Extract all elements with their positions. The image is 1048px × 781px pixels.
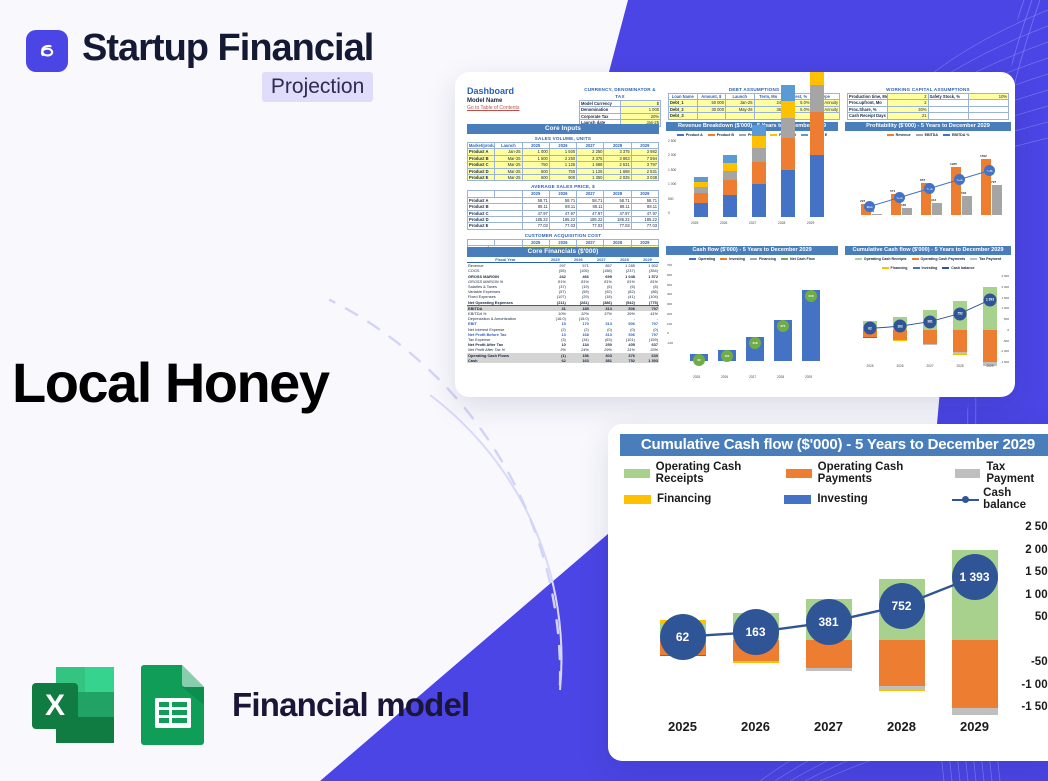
legend-swatch (887, 134, 894, 137)
cash-balance-marker: 163 (733, 609, 779, 655)
data-point-bubble: 62 (693, 354, 705, 366)
legend-label-cash-balance: Cash balance (983, 487, 1048, 511)
bar-segment (781, 118, 795, 138)
legend-swatch-financing (624, 495, 651, 504)
cash-balance-marker: 381 (924, 315, 937, 328)
data-point-bubble: 371 (777, 320, 789, 332)
x-axis-tick: 2025 (668, 719, 697, 734)
x-axis-tick: 2025 (866, 364, 873, 368)
table-row: Net Profit After Tax %3%24%29%31%33% (467, 347, 659, 352)
table-row: Cash621633817521 393 (467, 358, 659, 363)
cash-balance-marker: 163 (894, 320, 907, 333)
x-tick: 2027 (749, 221, 756, 225)
file-format-label: Financial model (232, 686, 469, 724)
bar-segment (810, 85, 824, 112)
legend-item: Operating Cash Payments (912, 257, 966, 261)
bar-segment-operating-cash-payments (923, 330, 937, 344)
y-tick: -100 (667, 341, 673, 345)
product-title: Local Honey (12, 352, 328, 414)
bar-segment-tax-payment (952, 708, 998, 715)
y-axis-tick: 2 500 (1001, 274, 1009, 278)
svg-text:X: X (45, 689, 65, 722)
avg-price-title: AVERAGE SALES PRICE, $ (467, 183, 659, 190)
x-tick: 2026 (721, 375, 728, 379)
bar-segment (723, 155, 737, 163)
cell-product: Product E (468, 223, 523, 229)
legend-swatch-tax-payment (955, 469, 980, 478)
cell-value: 3 038 (631, 175, 658, 181)
x-axis-tick: 2027 (926, 364, 933, 368)
cell-value: 77.03 (577, 223, 604, 229)
cell-value: 900 (549, 175, 576, 181)
bar-segment (694, 193, 708, 203)
y-axis-tick: 2 000 (1001, 285, 1009, 289)
core-financials-table: Fiscal Year20252026202720282029Revenue29… (467, 257, 659, 363)
y-tick: 1 000 (668, 182, 676, 186)
y-axis-tick: 0 (1007, 328, 1009, 332)
google-sheets-icon (138, 662, 208, 748)
cell-value: 163 (567, 358, 590, 363)
bar-segment-operating-cash-payments (879, 640, 925, 686)
legend-swatch (913, 267, 920, 270)
bar-segment (752, 184, 766, 217)
mini-chart-cumulative-cash-flow[interactable]: Cumulative Cash flow ($'000) - 5 Years t… (845, 246, 1011, 386)
cell-label2 (928, 113, 968, 119)
legend-label-operating-cash-payments: Operating Cash Payments (818, 461, 955, 485)
bar-segment (723, 180, 737, 195)
sales-volume-title: SALES VOLUME, UNITS (467, 135, 659, 142)
mini-chart-1-plot: 2 5002 0001 5001 00050002025202620272028… (666, 137, 838, 225)
legend-swatch (677, 134, 684, 137)
legend-label: Tax Payment (979, 257, 1001, 261)
bar-segment-financing (879, 690, 925, 691)
bar-segment (752, 136, 766, 148)
bar-segment (781, 101, 795, 118)
y-axis-tick: -1 500 (1000, 360, 1009, 364)
y-tick: 2 500 (668, 139, 676, 143)
cell-label: Cash (467, 358, 544, 363)
x-tick: 2025 (691, 221, 698, 225)
core-inputs-block: Core Inputs SALES VOLUME, UNITS Market/p… (467, 124, 659, 253)
legend-label-tax-payment: Tax Payment (986, 461, 1048, 485)
cell-value: 62 (544, 358, 567, 363)
x-axis-tick: 2027 (814, 719, 843, 734)
bar-segment-tax-payment (923, 344, 937, 345)
cash-balance-marker: 381 (806, 599, 852, 645)
brand-logo (26, 30, 68, 72)
bar-segment (694, 187, 708, 193)
data-point-bubble: 101 (721, 350, 733, 362)
legend-swatch (770, 134, 777, 137)
chart-plot-area: 2 5002 0001 5001 0005000-500-1 000-1 500… (620, 519, 1048, 734)
currency-block: CURRENCY, DENOMINATOR & TAX Model Curren… (579, 86, 661, 127)
x-axis-tick: 2026 (896, 364, 903, 368)
x-axis-tick: 2028 (887, 719, 916, 734)
dashboard-toc-link[interactable]: Go to Table of Contents (467, 105, 519, 112)
table-row: Fixed Expenses(107)(29)(18)(41)(104) (467, 294, 659, 299)
y-tick: 300 (667, 302, 672, 306)
x-tick: 2027 (749, 375, 756, 379)
column-header: Amount, $ (697, 94, 726, 100)
cell-value: 77.03 (631, 223, 658, 229)
data-point-bubble: 640 (805, 290, 817, 302)
y-axis-tick: 1 500 (1025, 566, 1048, 578)
cell-value: 1 350 (577, 175, 604, 181)
microsoft-excel-icon: X (30, 665, 116, 745)
y-tick: 0 (667, 331, 669, 335)
dashboard-screenshot-card[interactable]: Dashboard Model Name Go to Table of Cont… (455, 72, 1015, 397)
legend-item-cash-balance: Cash balance (952, 487, 1048, 511)
y-axis-tick: -1 000 (1021, 679, 1048, 691)
working-capital-block: WORKING CAPITAL ASSUMPTIONS Production t… (847, 86, 1009, 120)
cell (726, 113, 755, 119)
mini-chart-4-title: Cumulative Cash flow ($'000) - 5 Years t… (845, 246, 1011, 255)
bar-segment (781, 138, 795, 170)
x-axis-tick: 2028 (956, 364, 963, 368)
cell-value: 1 393 (636, 358, 659, 363)
mini-chart-3-plot: 7006005004003002001000-10062202510120262… (666, 261, 838, 371)
y-axis-tick: 1 000 (1001, 306, 1009, 310)
bar-segment (723, 195, 737, 217)
cash-balance-marker: 752 (954, 307, 967, 320)
legend-label-operating-cash-receipts: Operating Cash Receipts (656, 461, 786, 485)
y-axis-tick: -1 000 (1000, 349, 1009, 353)
cell-value: 77.03 (522, 223, 549, 229)
brand-header: Startup Financial Projection (26, 26, 373, 102)
mini-chart-revenue-breakdown[interactable]: Revenue Breakdown ($'000) - 5 Years to D… (666, 122, 838, 240)
y-tick: 2 000 (668, 153, 676, 157)
legend-swatch (942, 267, 949, 269)
brand-title: Startup Financial (82, 26, 373, 70)
legend-swatch-operating-cash-receipts (624, 469, 650, 478)
legend-label: Operating Cash Receipts (864, 257, 907, 261)
mini-chart-2-title: Profitability ($'000) - 5 Years to Decem… (845, 122, 1011, 131)
legend-marker-cash-balance (952, 495, 977, 504)
x-tick: 2029 (805, 375, 812, 379)
table-row: Net Operating Expenses(211)(281)(386)(54… (467, 300, 659, 306)
y-tick: 500 (667, 283, 672, 287)
bar-segment (694, 177, 708, 182)
chart-title: Cumulative Cash flow ($'000) - 5 Years t… (620, 434, 1048, 456)
y-tick: 600 (667, 273, 672, 277)
x-axis-tick: 2029 (986, 364, 993, 368)
bar-segment (723, 171, 737, 180)
y-tick: 400 (667, 292, 672, 296)
legend-item: Tax Payment (970, 257, 1001, 261)
poster-canvas: Startup Financial Projection Local Honey… (0, 0, 1048, 781)
bar-segment (752, 162, 766, 184)
bar-segment-tax-payment (806, 668, 852, 671)
cell-value: 600 (522, 175, 549, 181)
wc-section-title: WORKING CAPITAL ASSUMPTIONS (847, 86, 1009, 93)
cell-value: 381 (590, 358, 613, 363)
legend-swatch (801, 134, 808, 137)
legend-swatch (882, 267, 889, 270)
dashboard-heading-block: Dashboard Model Name Go to Table of Cont… (467, 86, 519, 112)
cell-value: 77.03 (549, 223, 576, 229)
cash-balance-marker: 62 (864, 322, 877, 335)
column-header: Market/product (468, 143, 495, 149)
y-tick: 500 (668, 197, 674, 201)
y-tick: 100 (667, 322, 672, 326)
legend-swatch-operating-cash-payments (786, 469, 812, 478)
cell (697, 113, 726, 119)
chart-legend: Operating Cash Receipts Operating Cash P… (620, 456, 1048, 511)
cell-value: 77.03 (604, 223, 631, 229)
y-axis-tick: -1 500 (1021, 701, 1048, 713)
data-point-bubble: 218 (749, 337, 761, 349)
legend-item-financing: Financing (624, 493, 784, 505)
legend-swatch-investing (784, 495, 811, 504)
bar-segment-financing (953, 354, 967, 355)
legend-swatch (912, 258, 919, 261)
infinity-swirl-icon (34, 38, 60, 64)
legend-item-tax-payment: Tax Payment (955, 461, 1048, 485)
legend-swatch (781, 258, 788, 260)
legend-label-financing: Financing (657, 493, 711, 505)
legend-swatch (916, 134, 923, 137)
mini-chart-4-plot: 2 5002 0001 5001 0005000-500-1 000-1 500… (845, 270, 1011, 380)
bar-segment (781, 170, 795, 217)
table-row: Product EMar-256009001 3502 0253 038 (468, 175, 659, 181)
mini-chart-3-title: Cash flow ($'000) - 5 Years to December … (666, 246, 838, 255)
bar-segment-investing (863, 337, 877, 338)
bar-segment-financing (893, 340, 907, 341)
sales-volume-table: Market/productLaunch20252026202720282029… (467, 142, 659, 181)
bar-segment-operating-cash-payments (983, 330, 997, 363)
cash-balance-marker: 62 (660, 614, 706, 660)
dashboard-title: Dashboard (467, 86, 519, 97)
bar-segment (723, 163, 737, 171)
legend-swatch (855, 258, 862, 261)
mini-chart-cash-flow[interactable]: Cash flow ($'000) - 5 Years to December … (666, 246, 838, 386)
cell-launch: Mar-25 (495, 175, 522, 181)
y-axis-tick: 500 (1035, 611, 1048, 623)
mini-chart-profitability[interactable]: Profitability ($'000) - 5 Years to Decem… (845, 122, 1011, 240)
bar-segment (810, 72, 824, 85)
legend-label-investing: Investing (817, 493, 867, 505)
x-tick: 2029 (807, 221, 814, 225)
x-tick: 2025 (693, 375, 700, 379)
legend-swatch (943, 134, 950, 136)
bar-segment (810, 155, 824, 217)
currency-section-title: CURRENCY, DENOMINATOR & TAX (579, 86, 661, 100)
y-axis-tick: -500 (1031, 656, 1048, 668)
table-row: Product E77.0377.0377.0377.0377.03 (468, 223, 659, 229)
cell: Debt_3 (669, 113, 698, 119)
cell-label: Cash Receipt Days (848, 113, 888, 119)
legend-swatch (750, 258, 757, 261)
cell (754, 113, 783, 119)
bar-segment (752, 148, 766, 162)
currency-table: Model Currency$Denomination1 000Corporat… (579, 100, 661, 127)
y-tick: 700 (667, 263, 672, 267)
y-tick: 1 500 (668, 168, 676, 172)
cell-value: 2 025 (604, 175, 631, 181)
bar-segment (781, 85, 795, 101)
bar-segment (694, 203, 708, 217)
mini-chart-4-legend: Operating Cash ReceiptsOperating Cash Pa… (845, 255, 1011, 270)
legend-swatch (970, 258, 977, 261)
y-axis-tick: 1 500 (1001, 296, 1009, 300)
bar-segment-operating-cash-payments (952, 640, 998, 708)
legend-item-operating-cash-receipts: Operating Cash Receipts (624, 461, 786, 485)
cell-product: Product E (468, 175, 495, 181)
core-inputs-band: Core Inputs (467, 124, 659, 134)
legend-item-investing: Investing (784, 493, 952, 505)
y-tick: 200 (667, 312, 672, 316)
x-tick: 2028 (777, 375, 784, 379)
ebitda-percent-line (845, 137, 1011, 227)
cell-value: 21 (888, 113, 928, 119)
x-tick: 2028 (778, 221, 785, 225)
legend-swatch (720, 258, 727, 261)
table-row: Cash Receipt Days21 (848, 113, 1009, 119)
legend-swatch (739, 134, 746, 137)
column-header: Loan Name (669, 94, 698, 100)
dashboard-model-name: Model Name (467, 97, 519, 105)
y-axis-tick: -500 (1003, 339, 1009, 343)
working-capital-table: Production time, Mo2Safety Stock, %10%Pr… (847, 93, 1009, 120)
legend-label: Operating Cash Payments (921, 257, 966, 261)
bar-segment (694, 182, 708, 187)
cell-label: Proc.upfront, Mo (848, 100, 888, 106)
y-tick: 0 (668, 211, 670, 215)
bar-segment (810, 112, 824, 155)
cumulative-cashflow-card[interactable]: Cumulative Cash flow ($'000) - 5 Years t… (608, 424, 1048, 761)
core-financials-block: Core Financials ($'000) Fiscal Year20252… (467, 247, 659, 363)
cash-balance-marker: 1 393 (952, 554, 998, 600)
y-axis-tick: 2 500 (1025, 521, 1048, 533)
cell-value: 752 (613, 358, 636, 363)
cash-balance-marker: 1 393 (984, 293, 997, 306)
bar-segment-operating-cash-payments (953, 330, 967, 352)
cac-title: CUSTOMER ACQUISITION COST (467, 232, 659, 239)
legend-swatch (708, 134, 715, 137)
cell-value2 (968, 113, 1008, 119)
x-axis-tick: 2029 (960, 719, 989, 734)
x-axis-tick: 2026 (741, 719, 770, 734)
x-tick: 2026 (720, 221, 727, 225)
legend-item-operating-cash-payments: Operating Cash Payments (786, 461, 955, 485)
cash-balance-marker: 752 (879, 583, 925, 629)
mini-chart-2-plot: 2973110%57118532%85731337%128550639%1502… (845, 137, 1011, 227)
legend-swatch (689, 258, 696, 261)
legend-item: Operating Cash Receipts (855, 257, 907, 261)
brand-subtitle: Projection (262, 72, 373, 102)
core-financials-band: Core Financials ($'000) (467, 247, 659, 257)
bar-segment-financing (733, 662, 779, 663)
file-format-row: X Financial model (30, 662, 469, 748)
y-axis-tick: 2 000 (1025, 544, 1048, 556)
y-axis-tick: 1 000 (1025, 589, 1048, 601)
cell-label: Production time, Mo (848, 94, 888, 100)
dashboard-sheet: Dashboard Model Name Go to Table of Cont… (461, 78, 1009, 391)
avg-price-table: 20252026202720282029 Product A58.7158.71… (467, 190, 659, 229)
y-axis-tick: 500 (1004, 317, 1009, 321)
bar-segment (752, 125, 766, 136)
